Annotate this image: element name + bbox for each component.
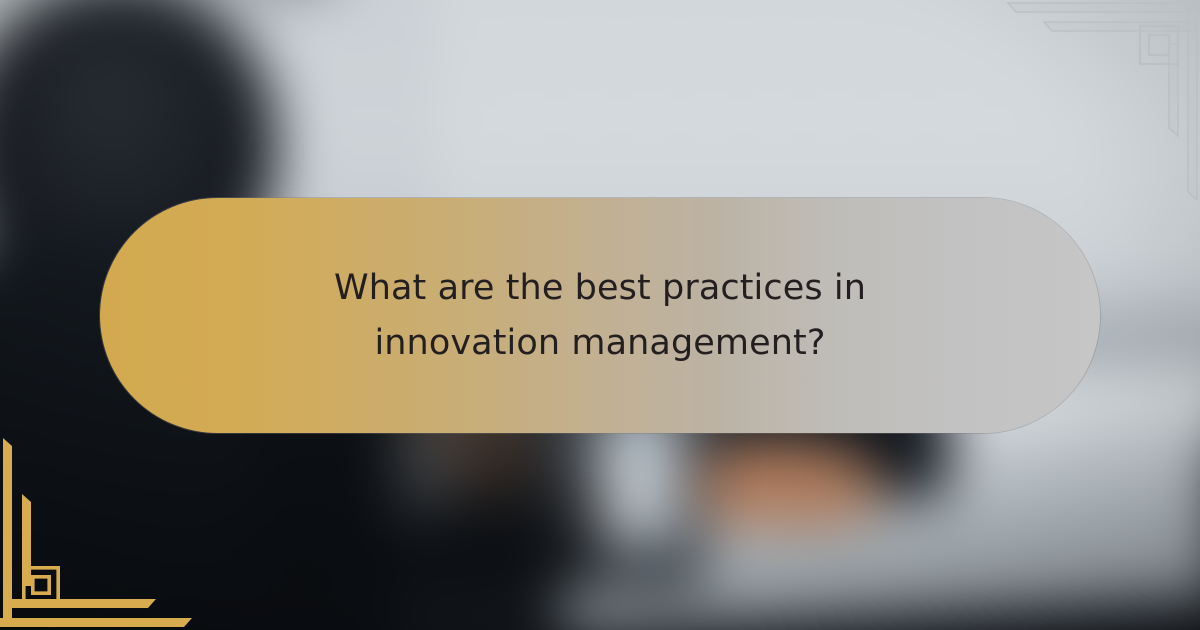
question-text: What are the best practices in innovatio…	[240, 261, 960, 370]
promo-card-canvas: What are the best practices in innovatio…	[0, 0, 1200, 630]
question-card: What are the best practices in innovatio…	[100, 198, 1100, 433]
